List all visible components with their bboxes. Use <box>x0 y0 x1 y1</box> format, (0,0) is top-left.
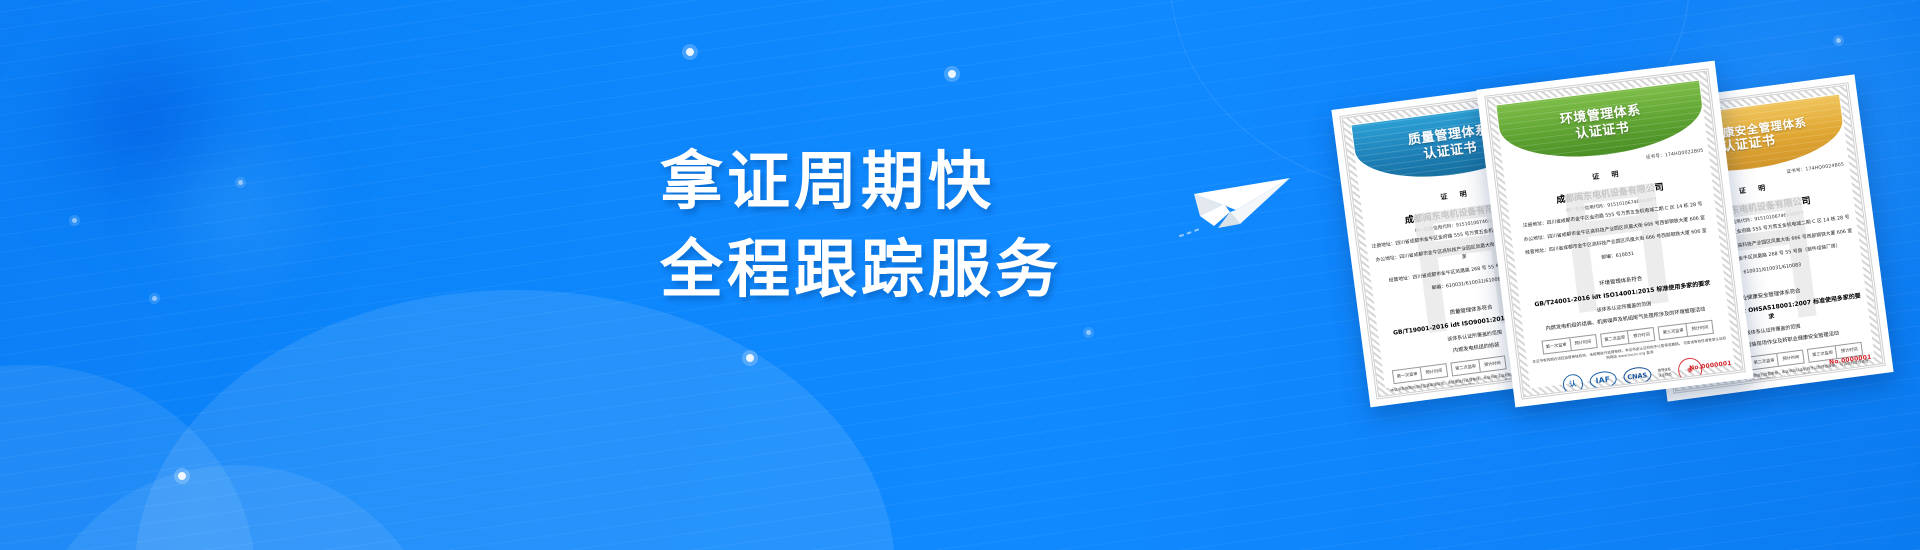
audit-date: 预计时间 <box>1686 321 1713 336</box>
light-blue-glow-blob <box>150 140 330 280</box>
decorative-circle-medium <box>0 365 255 550</box>
certification-body-text: 管理体系认证标志 <box>1657 367 1672 378</box>
headline-line-1: 拿证周期快 <box>660 138 1062 226</box>
iaf-logo-icon: IAF <box>1450 397 1479 399</box>
audit-date: 预计时间 <box>1777 351 1804 366</box>
audit-label: 第二次监审 <box>1601 331 1629 346</box>
decorative-dot <box>1836 38 1841 43</box>
decorative-circle-small <box>25 465 445 550</box>
decorative-dot <box>238 180 243 185</box>
decorative-dot <box>72 218 77 223</box>
cnas-logo-icon: CNAS <box>1622 366 1652 386</box>
audit-date: 预计时间 <box>1478 356 1505 371</box>
red-seal-icon: 章 <box>1815 378 1846 394</box>
audit-date: 预计时间 <box>1569 335 1596 350</box>
decorative-dot <box>152 296 157 301</box>
cnca-logo-icon: 认 <box>1562 373 1584 395</box>
audit-date: 预计时间 <box>1627 328 1654 343</box>
audit-label: 第一次监审 <box>1393 367 1421 382</box>
decorative-dot <box>746 354 754 362</box>
audit-label: 第二次监审 <box>1451 359 1479 374</box>
hero-banner: 拿证周期快 全程跟踪服务 质量管理体系 认证证书 证书号：174HQ002030… <box>0 0 1920 550</box>
audit-label: 第二次监审 <box>1750 354 1778 369</box>
hero-headline: 拿证周期快 全程跟踪服务 <box>660 138 1062 314</box>
iaf-logo-icon: IAF <box>1589 370 1618 390</box>
audit-label: 第三次监审 <box>1659 324 1687 339</box>
decorative-circle-large <box>135 290 895 550</box>
paper-plane-icon <box>1178 158 1318 250</box>
audit-date: 预计时间 <box>1420 364 1447 379</box>
cnas-logo-icon: CNAS <box>1782 387 1812 394</box>
decorative-dot <box>178 472 186 480</box>
decorative-dot <box>1086 330 1091 335</box>
audit-label: 第一次监审 <box>1542 338 1570 353</box>
headline-line-2: 全程跟踪服务 <box>660 226 1062 314</box>
decorative-dot <box>948 70 956 78</box>
decorative-dot <box>686 48 694 56</box>
cnas-logo-icon: CNAS <box>1484 393 1514 400</box>
certificate-environmental[interactable]: 环境管理体系 认证证书 证书号：174HQ0022B05 证 明 成都闽东电机设… <box>1476 61 1753 408</box>
dark-blue-glow-blob <box>58 45 248 220</box>
iaf-logo-icon: IAF <box>1748 392 1777 394</box>
certificate-group: 质量管理体系 认证证书 证书号：174HQ0020305 证 明 成都闽东电机设… <box>1350 60 1920 490</box>
